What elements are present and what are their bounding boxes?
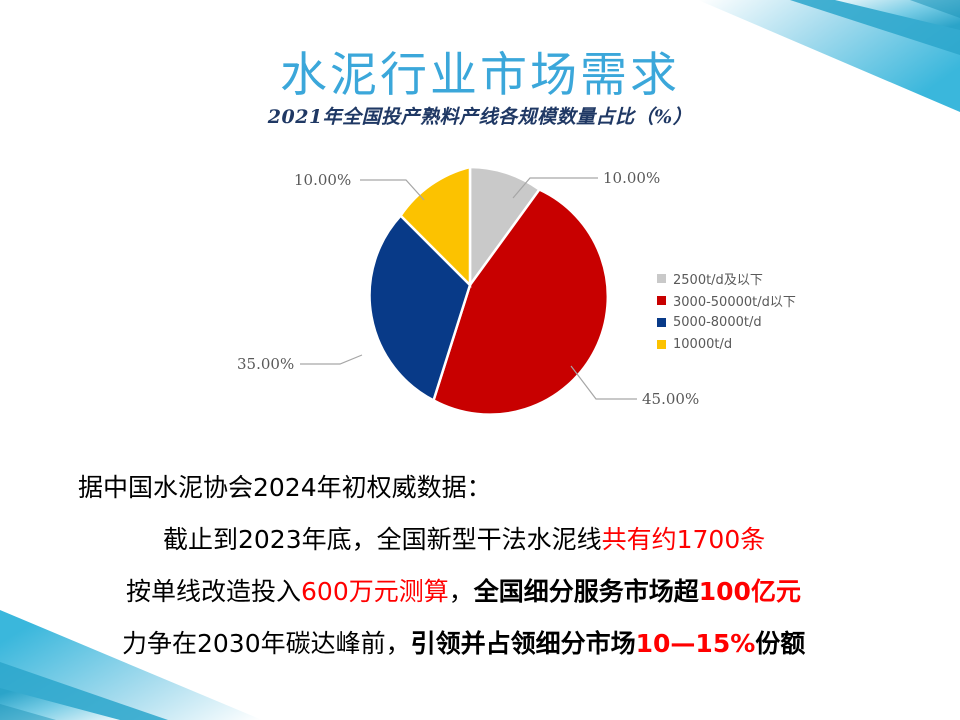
body-line-1: 据中国水泥协会2024年初权威数据： [0, 462, 960, 514]
legend-swatch-icon [657, 296, 666, 305]
legend-swatch-icon [657, 318, 666, 327]
body-line-3: 按单线改造投入600万元测算，全国细分服务市场超100亿元 [0, 566, 960, 618]
legend-swatch-icon [657, 274, 666, 283]
legend-item-label: 2500t/d及以下 [673, 269, 763, 288]
legend-item[interactable]: 5000-8000t/d [657, 312, 857, 332]
chart-legend: 2500t/d及以下 3000-50000t/d以下 5000-8000t/d … [657, 268, 857, 356]
chart-subtitle: 2021年全国投产熟料产线各规模数量占比（%） [0, 108, 960, 127]
legend-item[interactable]: 10000t/d [657, 334, 857, 354]
legend-item-label: 3000-50000t/d以下 [673, 291, 796, 310]
body-line-2-highlight: 共有约1700条 [602, 525, 766, 554]
body-line-4-text: 力争在2030年碳达峰前， [122, 629, 411, 658]
pie-label-gray: 10.00% [603, 169, 660, 187]
legend-item-label: 5000-8000t/d [673, 315, 762, 330]
body-line-4-highlight-share: 10—15% [636, 629, 756, 658]
body-line-2-text: 截止到2023年底，全国新型干法水泥线 [163, 525, 602, 554]
legend-item-label: 10000t/d [673, 337, 732, 352]
body-line-3-emphasis: 全国细分服务市场超 [474, 577, 699, 606]
body-line-2: 截止到2023年底，全国新型干法水泥线共有约1700条 [0, 514, 960, 566]
page-title: 水泥行业市场需求 [0, 52, 960, 99]
legend-item[interactable]: 2500t/d及以下 [657, 268, 857, 288]
body-text-block: 据中国水泥协会2024年初权威数据： 截止到2023年底，全国新型干法水泥线共有… [0, 462, 960, 670]
body-line-3-text: 按单线改造投入 [126, 577, 301, 606]
leader-line-blue [300, 355, 362, 364]
title-block: 水泥行业市场需求 2021年全国投产熟料产线各规模数量占比（%） [0, 52, 960, 127]
body-line-3-highlight-market: 100亿元 [699, 577, 801, 606]
body-line-4-emphasis-tail: 份额 [755, 629, 805, 658]
body-line-3-highlight-cost: 600万元测算 [301, 577, 449, 606]
legend-swatch-icon [657, 340, 666, 349]
body-line-1-text: 据中国水泥协会2024年初权威数据： [78, 473, 492, 502]
slide-canvas: 水泥行业市场需求 2021年全国投产熟料产线各规模数量占比（%） 10.00% … [0, 0, 960, 720]
pie-label-blue: 35.00% [237, 355, 294, 373]
body-line-3-comma: ， [449, 577, 474, 606]
body-line-4: 力争在2030年碳达峰前，引领并占领细分市场10—15%份额 [0, 618, 960, 670]
legend-item[interactable]: 3000-50000t/d以下 [657, 290, 857, 310]
pie-label-yellow: 10.00% [294, 171, 351, 189]
pie-label-red: 45.00% [642, 390, 699, 408]
body-line-4-emphasis: 引领并占领细分市场 [411, 629, 636, 658]
